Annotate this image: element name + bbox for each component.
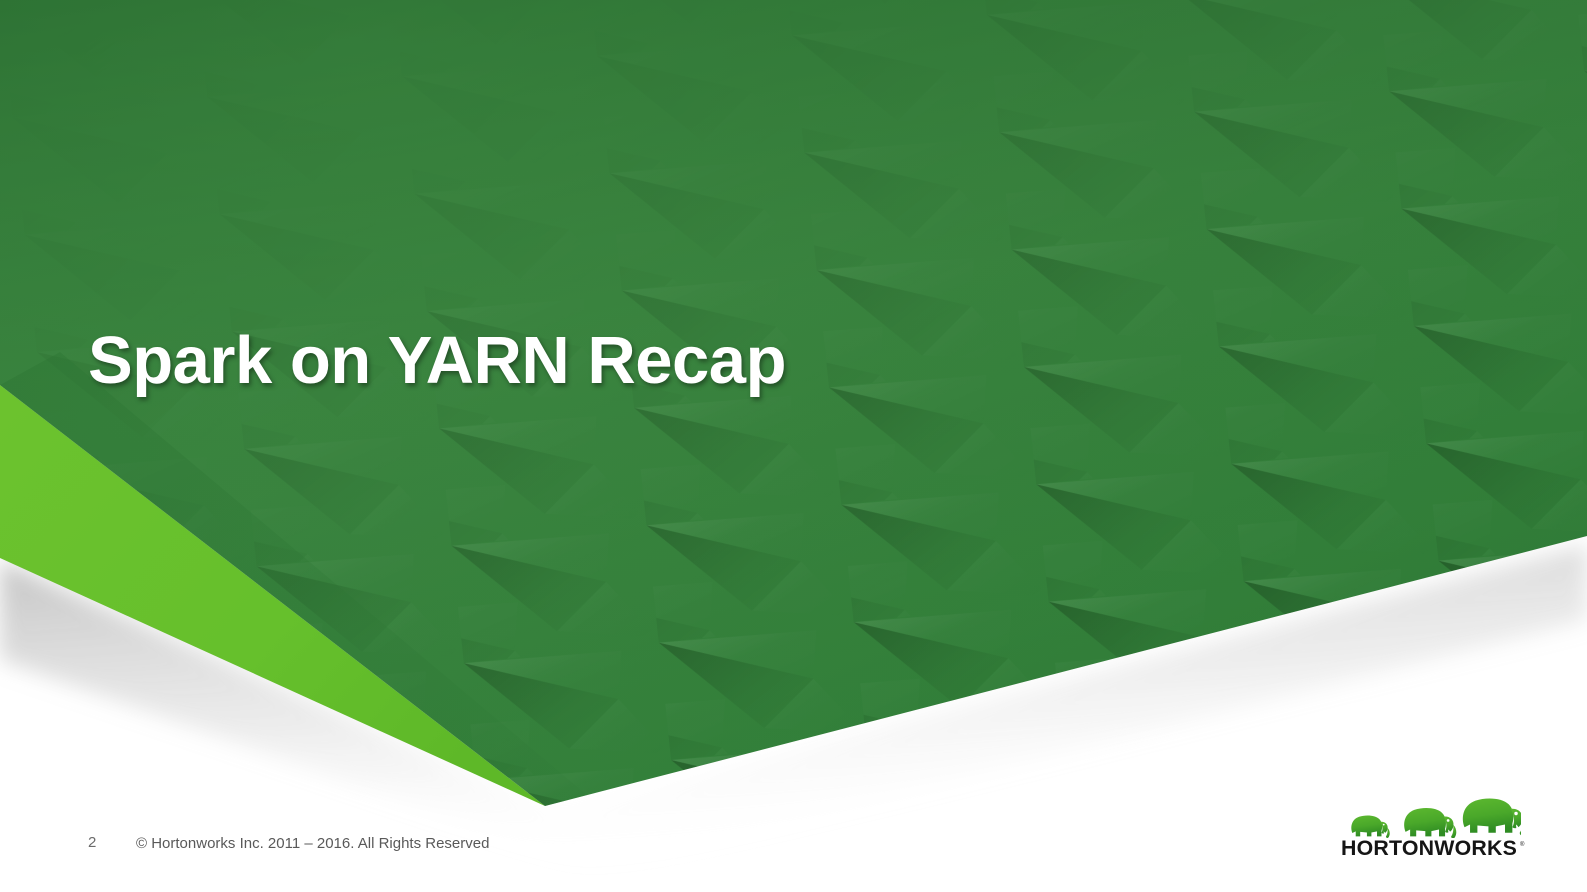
accent-wedge-light-green	[0, 0, 1587, 892]
svg-text:®: ®	[1520, 841, 1525, 848]
logo-wordmark: HORTONWORKS ®	[1341, 836, 1527, 860]
elephant-icon	[1347, 794, 1521, 838]
svg-text:HORTONWORKS: HORTONWORKS	[1341, 837, 1517, 860]
sheet-drop-shadow	[0, 0, 1587, 892]
slide-canvas: Spark on YARN Recap 2 © Hortonworks Inc.…	[0, 0, 1587, 892]
hortonworks-logo: HORTONWORKS ®	[1341, 794, 1527, 860]
page-number: 2	[88, 835, 96, 850]
slide-title: Spark on YARN Recap	[88, 326, 786, 396]
background-green-sheet	[0, 0, 1587, 892]
copyright-notice: © Hortonworks Inc. 2011 – 2016. All Righ…	[136, 836, 489, 851]
